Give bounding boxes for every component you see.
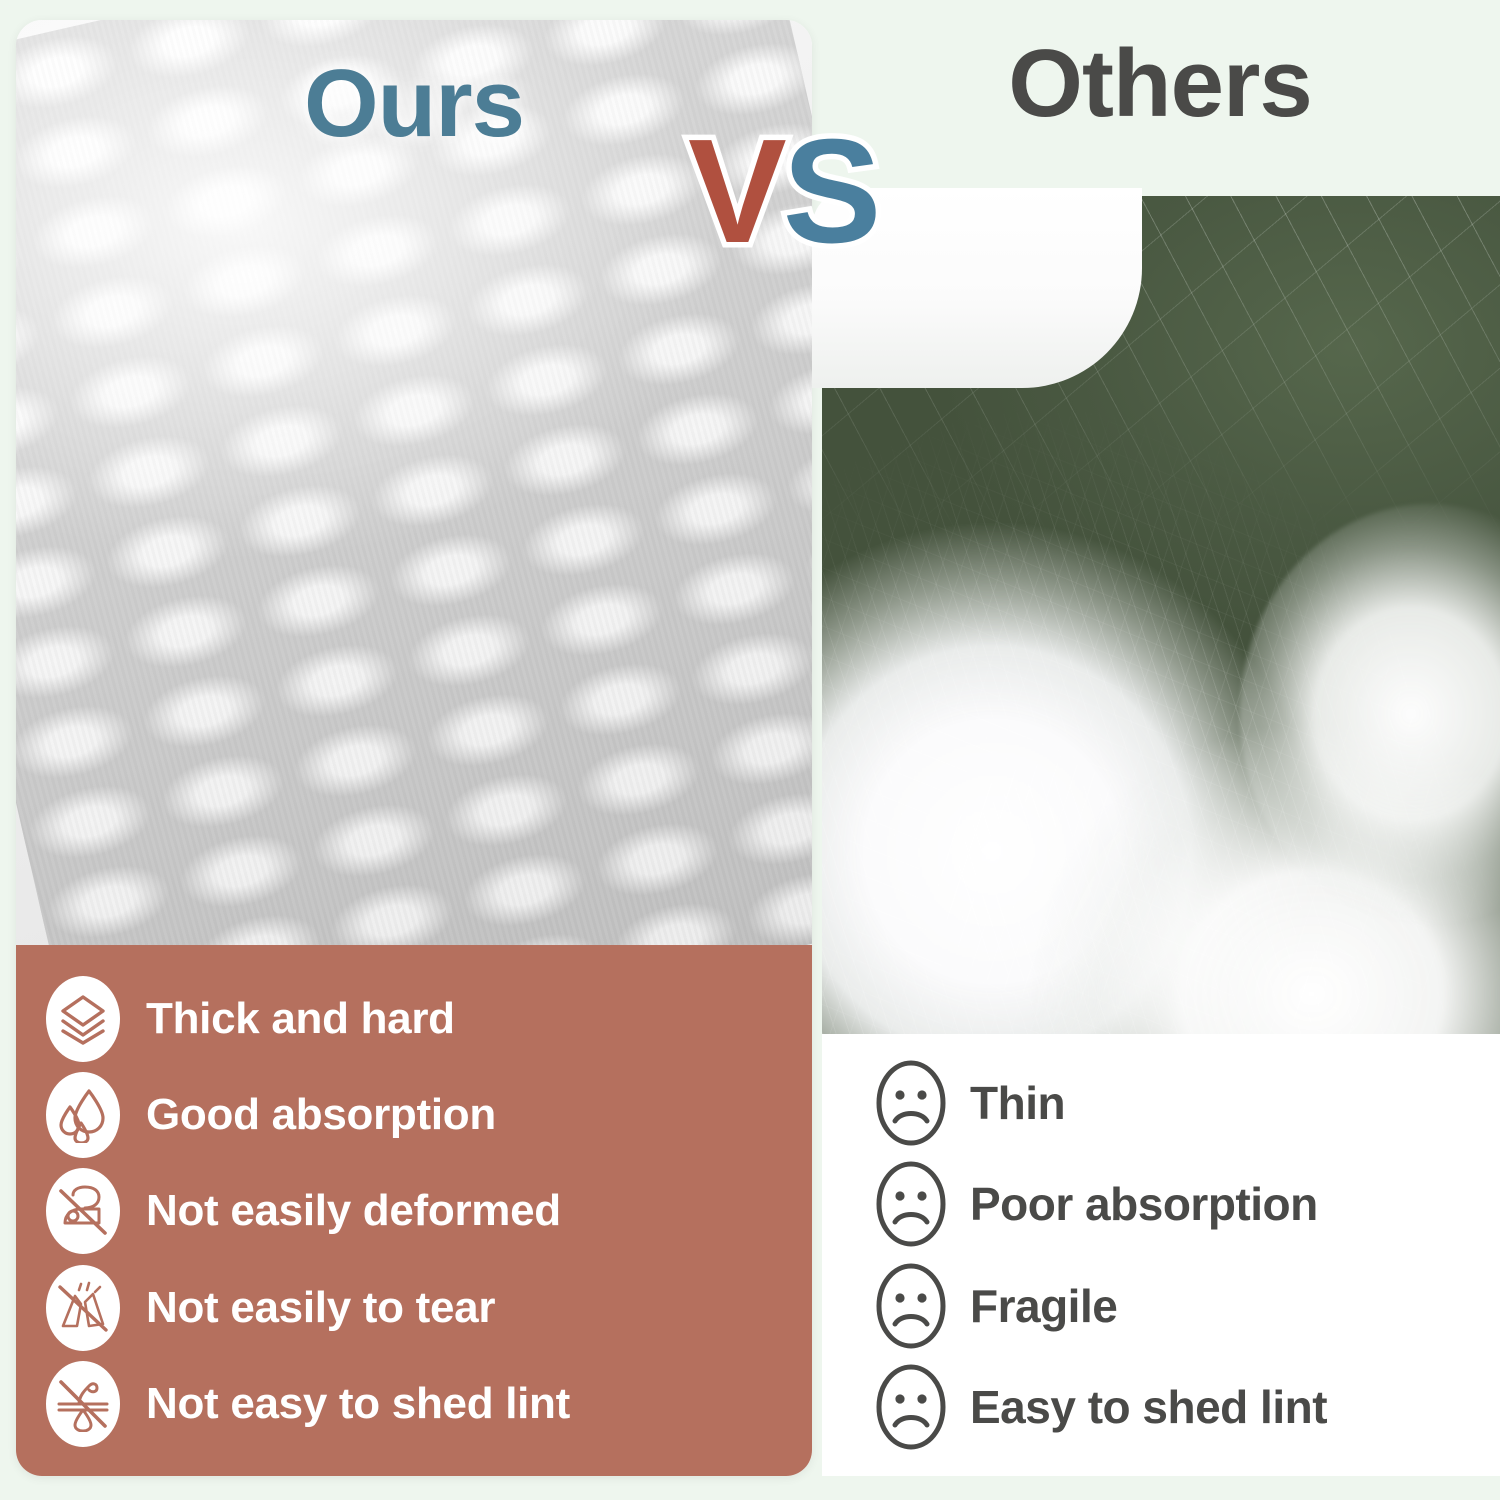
sad-face-icon bbox=[874, 1059, 948, 1147]
no-tear-icon bbox=[46, 1265, 120, 1351]
feature-label: Not easily deformed bbox=[146, 1188, 561, 1234]
water-drop-icon bbox=[46, 1072, 120, 1158]
feature-row: Thick and hard bbox=[46, 976, 782, 1062]
feature-row: Not easily to tear bbox=[46, 1265, 782, 1351]
con-row: Easy to shed lint bbox=[874, 1363, 1500, 1451]
con-label: Fragile bbox=[970, 1283, 1117, 1329]
layers-icon bbox=[46, 976, 120, 1062]
con-label: Thin bbox=[970, 1080, 1065, 1126]
feature-row: Not easily deformed bbox=[46, 1168, 782, 1254]
sad-face-icon bbox=[874, 1363, 948, 1451]
vs-letter-v: V bbox=[688, 118, 783, 266]
con-label: Poor absorption bbox=[970, 1181, 1318, 1227]
no-deform-icon bbox=[46, 1168, 120, 1254]
vs-badge: VS bbox=[688, 118, 877, 266]
sad-face-icon bbox=[874, 1262, 948, 1350]
comparison-infographic: Ours Thick and hard bbox=[0, 0, 1500, 1500]
others-cons-panel: Thin Poor absorption bbox=[822, 1034, 1500, 1476]
con-row: Thin bbox=[874, 1059, 1500, 1147]
feature-label: Thick and hard bbox=[146, 996, 455, 1042]
feature-row: Good absorption bbox=[46, 1072, 782, 1158]
con-row: Fragile bbox=[874, 1262, 1500, 1350]
others-title: Others bbox=[820, 36, 1500, 132]
vs-letter-s: S bbox=[783, 118, 878, 266]
feature-label: Good absorption bbox=[146, 1092, 496, 1138]
feature-label: Not easily to tear bbox=[146, 1285, 495, 1331]
con-row: Poor absorption bbox=[874, 1160, 1500, 1248]
con-label: Easy to shed lint bbox=[970, 1384, 1327, 1430]
ours-feature-panel: Thick and hard Good absorption bbox=[16, 945, 812, 1476]
no-lint-icon bbox=[46, 1361, 120, 1447]
feature-row: Not easy to shed lint bbox=[46, 1361, 782, 1447]
feature-label: Not easy to shed lint bbox=[146, 1381, 570, 1427]
sad-face-icon bbox=[874, 1160, 948, 1248]
